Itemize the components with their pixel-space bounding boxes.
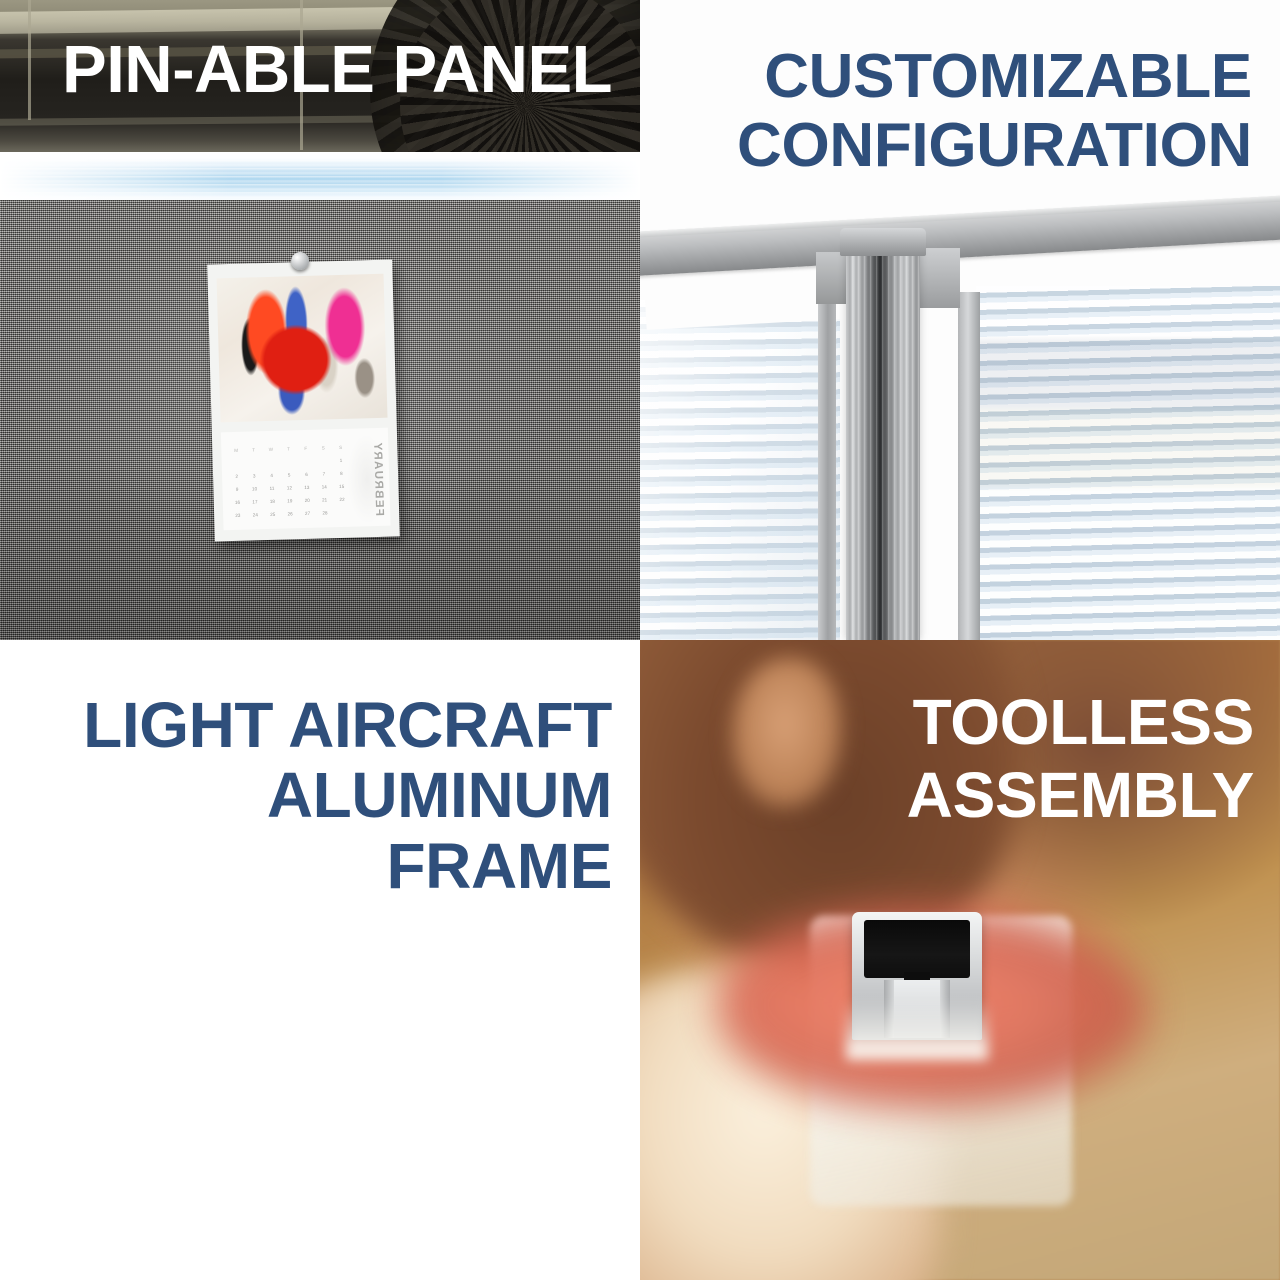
heading-toolless-assembly: TOOLLESS ASSEMBLY	[907, 686, 1254, 832]
calendar-day-cell: 2	[228, 470, 246, 483]
calendar-days-grid: MTWTFSS123456789101112131415161718192021…	[227, 441, 351, 522]
extrusion-blur-falloff	[846, 1000, 988, 1060]
post-bracket-left	[816, 252, 850, 304]
rail-highlight-right	[440, 152, 640, 202]
panel-glare-left	[640, 300, 840, 640]
calendar-day-cell: 24	[246, 508, 264, 521]
rail-highlight-left	[0, 152, 230, 202]
post-extrusion-seams	[846, 244, 920, 640]
post-top-cap	[840, 228, 926, 256]
translucent-panel-right	[976, 286, 1280, 640]
post-bracket-right	[916, 248, 960, 308]
calendar-day-cell: 23	[229, 509, 247, 522]
calendar-day-cell	[245, 456, 263, 469]
calendar-day-cell: 11	[263, 482, 281, 495]
push-pin-icon	[290, 252, 308, 270]
pinned-calendar-poster: MTWTFSS123456789101112131415161718192021…	[207, 259, 400, 541]
calendar-day-cell	[228, 457, 246, 470]
window-view-through-blinds	[976, 286, 1280, 640]
panel-light-aircraft-aluminum-frame: LIGHT AIRCRAFT ALUMINUM FRAME	[0, 640, 640, 1280]
calendar-day-cell: 3	[245, 469, 263, 482]
calendar-month-label: FEBRUARY	[361, 436, 385, 523]
aluminum-top-rail	[0, 152, 640, 202]
feature-collage: MTWTFSS123456789101112131415161718192021…	[0, 0, 1280, 1280]
calendar-weekday-header: S	[314, 441, 332, 454]
calendar-day-cell: 4	[263, 469, 281, 482]
calendar-day-cell: 6	[298, 468, 316, 481]
calendar-day-cell: 5	[280, 468, 298, 481]
calendar-day-cell: 14	[315, 480, 333, 493]
calendar-day-cell: 12	[281, 481, 299, 494]
calendar-weekday-header: W	[262, 443, 280, 456]
calendar-day-cell: 20	[298, 494, 316, 507]
calendar-day-cell: 7	[315, 467, 333, 480]
calendar-day-cell	[262, 456, 280, 469]
calendar-grid-area: MTWTFSS123456789101112131415161718192021…	[221, 428, 391, 531]
calendar-day-cell: 13	[298, 481, 316, 494]
calendar-day-cell: 28	[316, 506, 334, 519]
calendar-day-cell	[315, 454, 333, 467]
ceiling-conduit	[28, 0, 31, 120]
blurred-ear	[732, 658, 842, 808]
calendar-day-cell: 26	[281, 507, 299, 520]
panel-mullion-right	[958, 292, 980, 640]
calendar-day-cell: 16	[229, 496, 247, 509]
panel-pin-able-panel: MTWTFSS123456789101112131415161718192021…	[0, 0, 640, 640]
panel-customizable-configuration: CUSTOMIZABLE CONFIGURATION	[640, 0, 1280, 640]
calendar-weekday-header: M	[227, 444, 245, 457]
calendar-day-cell	[297, 455, 315, 468]
calendar-day-cell: 21	[316, 493, 334, 506]
aluminum-connector-post	[846, 244, 920, 640]
calendar-day-cell: 18	[263, 495, 281, 508]
heading-pin-able-panel: PIN-ABLE PANEL	[62, 36, 612, 103]
calendar-weekday-header: T	[245, 443, 263, 456]
calendar-day-cell: 25	[264, 508, 282, 521]
calendar-day-cell	[280, 455, 298, 468]
panel-mullion-left	[818, 296, 836, 640]
calendar-day-cell: 17	[246, 495, 264, 508]
calendar-weekday-header: F	[297, 442, 315, 455]
calendar-day-cell: 19	[281, 494, 299, 507]
calendar-day-cell: 9	[228, 483, 246, 496]
calendar-weekday-header: T	[279, 442, 297, 455]
translucent-panel-left	[640, 300, 840, 640]
extrusion-open-channel	[864, 920, 970, 978]
heading-light-aircraft-aluminum-frame: LIGHT AIRCRAFT ALUMINUM FRAME	[83, 690, 612, 901]
panel-toolless-assembly: TOOLLESS ASSEMBLY	[640, 640, 1280, 1280]
heading-customizable-configuration: CUSTOMIZABLE CONFIGURATION	[737, 42, 1252, 181]
calendar-day-cell: 10	[246, 482, 264, 495]
calendar-artwork	[217, 274, 388, 423]
calendar-day-cell: 27	[299, 507, 317, 520]
